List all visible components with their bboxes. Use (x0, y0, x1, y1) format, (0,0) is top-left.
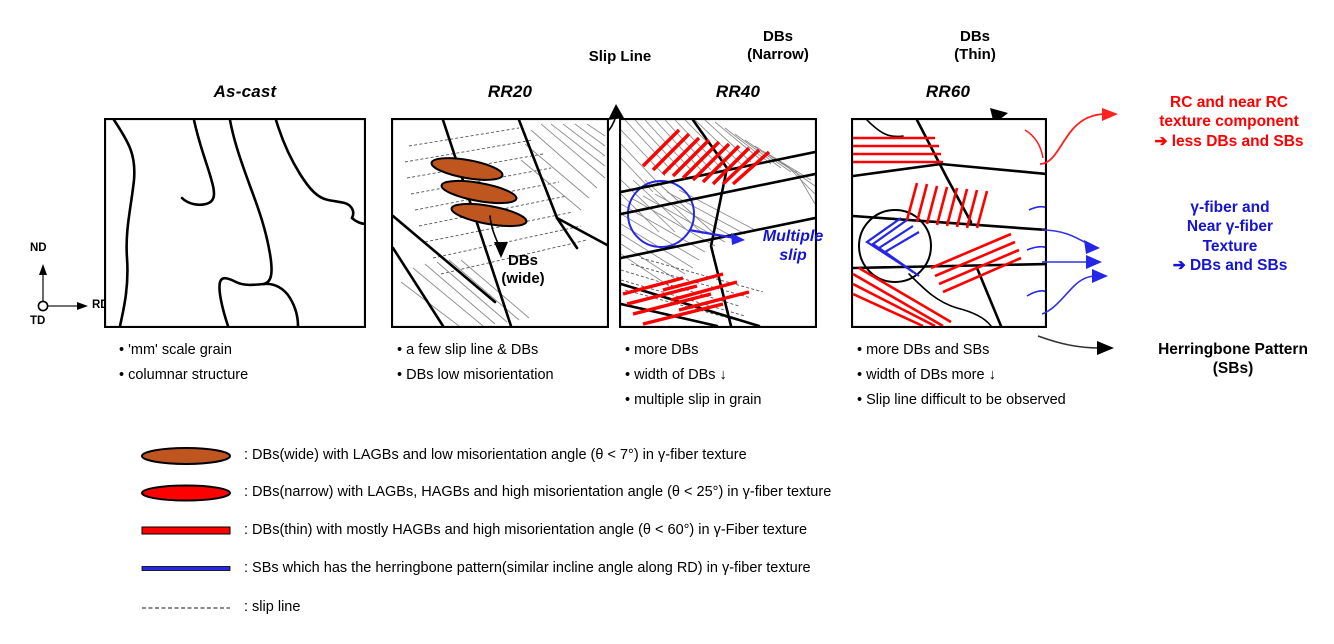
legend-label: : SBs which has the herringbone pattern(… (244, 560, 811, 576)
panel-rr40[interactable] (619, 118, 817, 328)
legend-label: : DBs(wide) with LAGBs and low misorient… (244, 447, 747, 463)
bullets-as-cast: • 'mm' scale grain • columnar structure (119, 338, 369, 388)
ellipse-red-icon (140, 480, 232, 506)
callout-dbs-thin: DBs (Thin) (920, 28, 1030, 63)
panel-rr60[interactable] (851, 118, 1047, 328)
axis-label-nd: ND (30, 242, 47, 254)
side-note-rc-texture: RC and near RC texture component ➔ less … (1122, 93, 1334, 151)
panel-as-cast[interactable] (104, 118, 366, 328)
legend-label: : DBs(narrow) with LAGBs, HAGBs and high… (244, 484, 831, 500)
label-multiple-slip: Multiple slip (744, 228, 842, 266)
line-blue-icon (140, 556, 232, 582)
label-dbs-wide: DBs (wide) (478, 252, 568, 287)
callout-dbs-narrow: DBs (Narrow) (718, 28, 838, 63)
legend-label: : slip line (244, 599, 300, 615)
panel-rr20[interactable] (391, 118, 609, 328)
line-dashed-gray-icon (140, 595, 232, 621)
axis-label-td: TD (30, 315, 45, 327)
bullets-rr40: • more DBs • width of DBs ↓ • multiple s… (625, 338, 845, 413)
panel-title-as-cast: As-cast (155, 82, 335, 102)
bullets-rr60: • more DBs and SBs • width of DBs more ↓… (857, 338, 1187, 413)
legend-label: : DBs(thin) with mostly HAGBs and high m… (244, 522, 807, 538)
line-red-icon (140, 518, 232, 544)
ellipse-orange-icon (140, 443, 232, 469)
bullets-rr20: • a few slip line & DBs • DBs low misori… (397, 338, 647, 388)
panel-title-rr20: RR20 (440, 82, 580, 102)
side-note-gamma-fiber: γ-fiber and Near γ-fiber Texture ➔ DBs a… (1130, 198, 1330, 276)
